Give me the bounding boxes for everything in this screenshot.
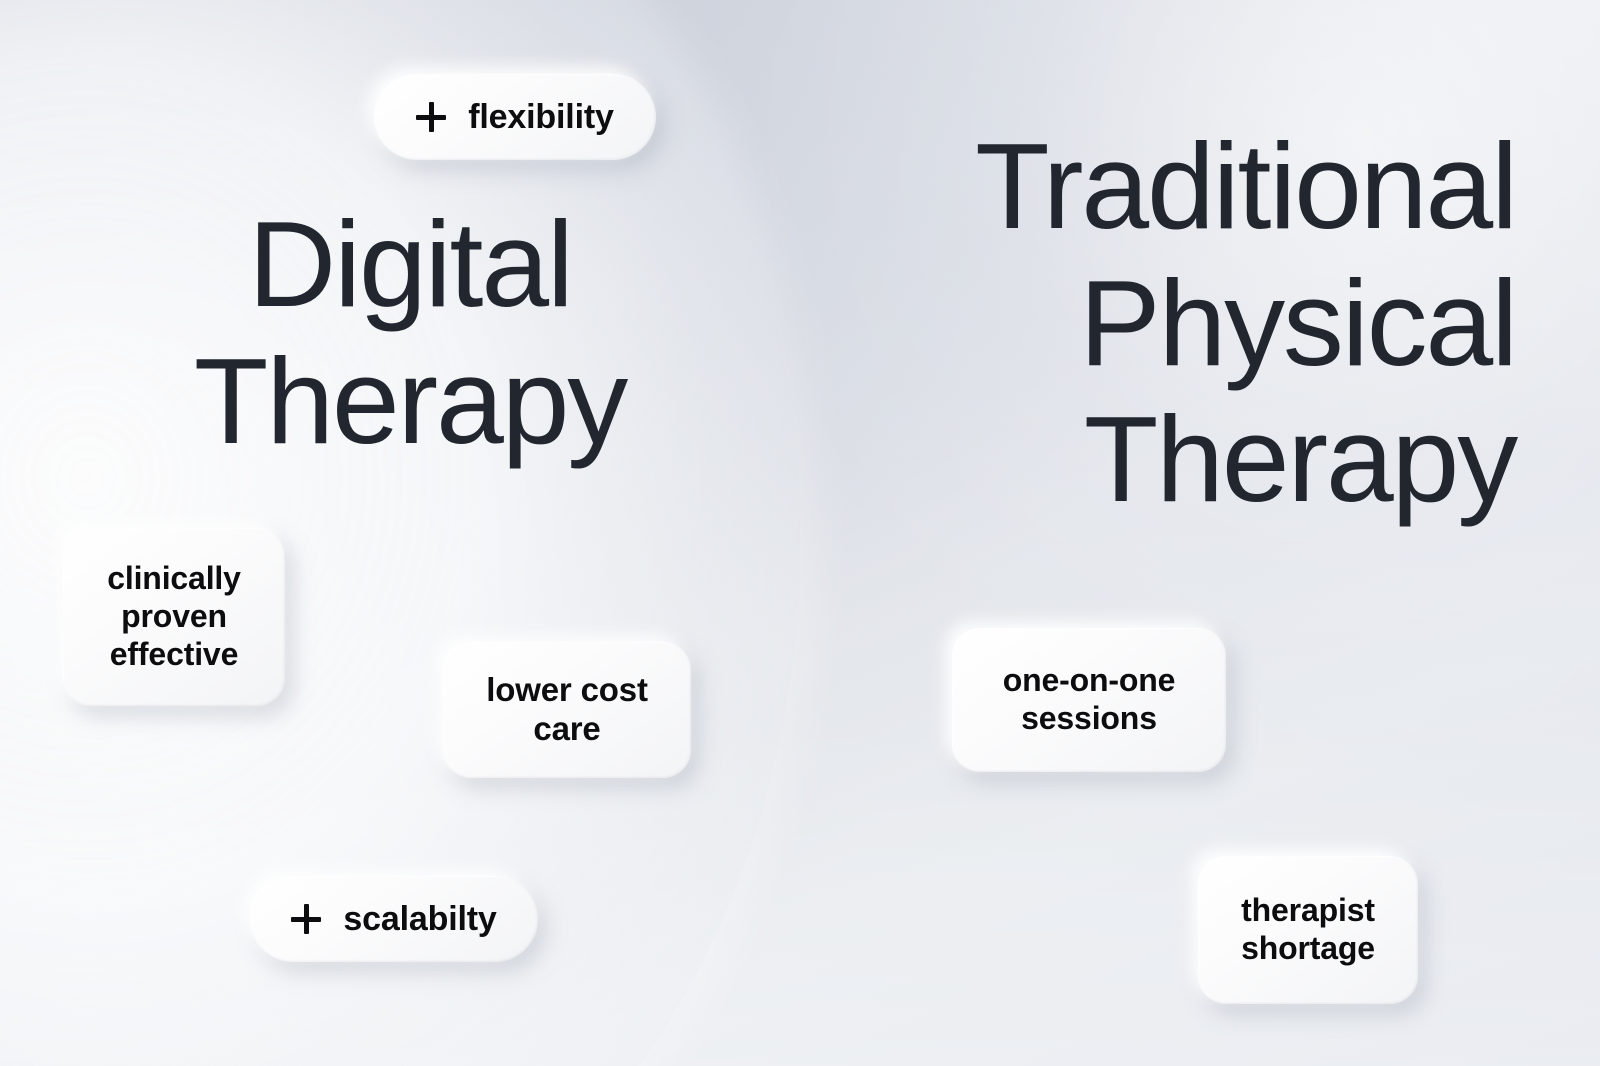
left-column-heading: Digital Therapy: [150, 196, 670, 469]
chip-flexibility-label: flexibility: [468, 97, 614, 137]
plus-icon: [291, 904, 321, 934]
chip-flexibility[interactable]: flexibility: [374, 74, 656, 160]
chip-one-on-one-sessions[interactable]: one-on-one sessions: [952, 628, 1226, 772]
chip-one-on-one-sessions-label: one-on-one sessions: [1003, 662, 1176, 738]
chip-therapist-shortage-label: therapist shortage: [1241, 892, 1375, 968]
chip-therapist-shortage[interactable]: therapist shortage: [1198, 856, 1418, 1004]
chip-clinically-proven-effective-label: clinically proven effective: [107, 560, 241, 673]
comparison-canvas: Digital Therapy Traditional Physical The…: [0, 0, 1600, 1066]
chip-scalability[interactable]: scalabilty: [250, 876, 538, 962]
chip-lower-cost-care-label: lower cost care: [486, 671, 648, 749]
right-column-heading: Traditional Physical Therapy: [816, 118, 1516, 528]
plus-icon: [416, 102, 446, 132]
chip-lower-cost-care[interactable]: lower cost care: [443, 642, 691, 778]
chip-scalability-label: scalabilty: [343, 899, 496, 939]
chip-clinically-proven-effective[interactable]: clinically proven effective: [63, 528, 285, 706]
